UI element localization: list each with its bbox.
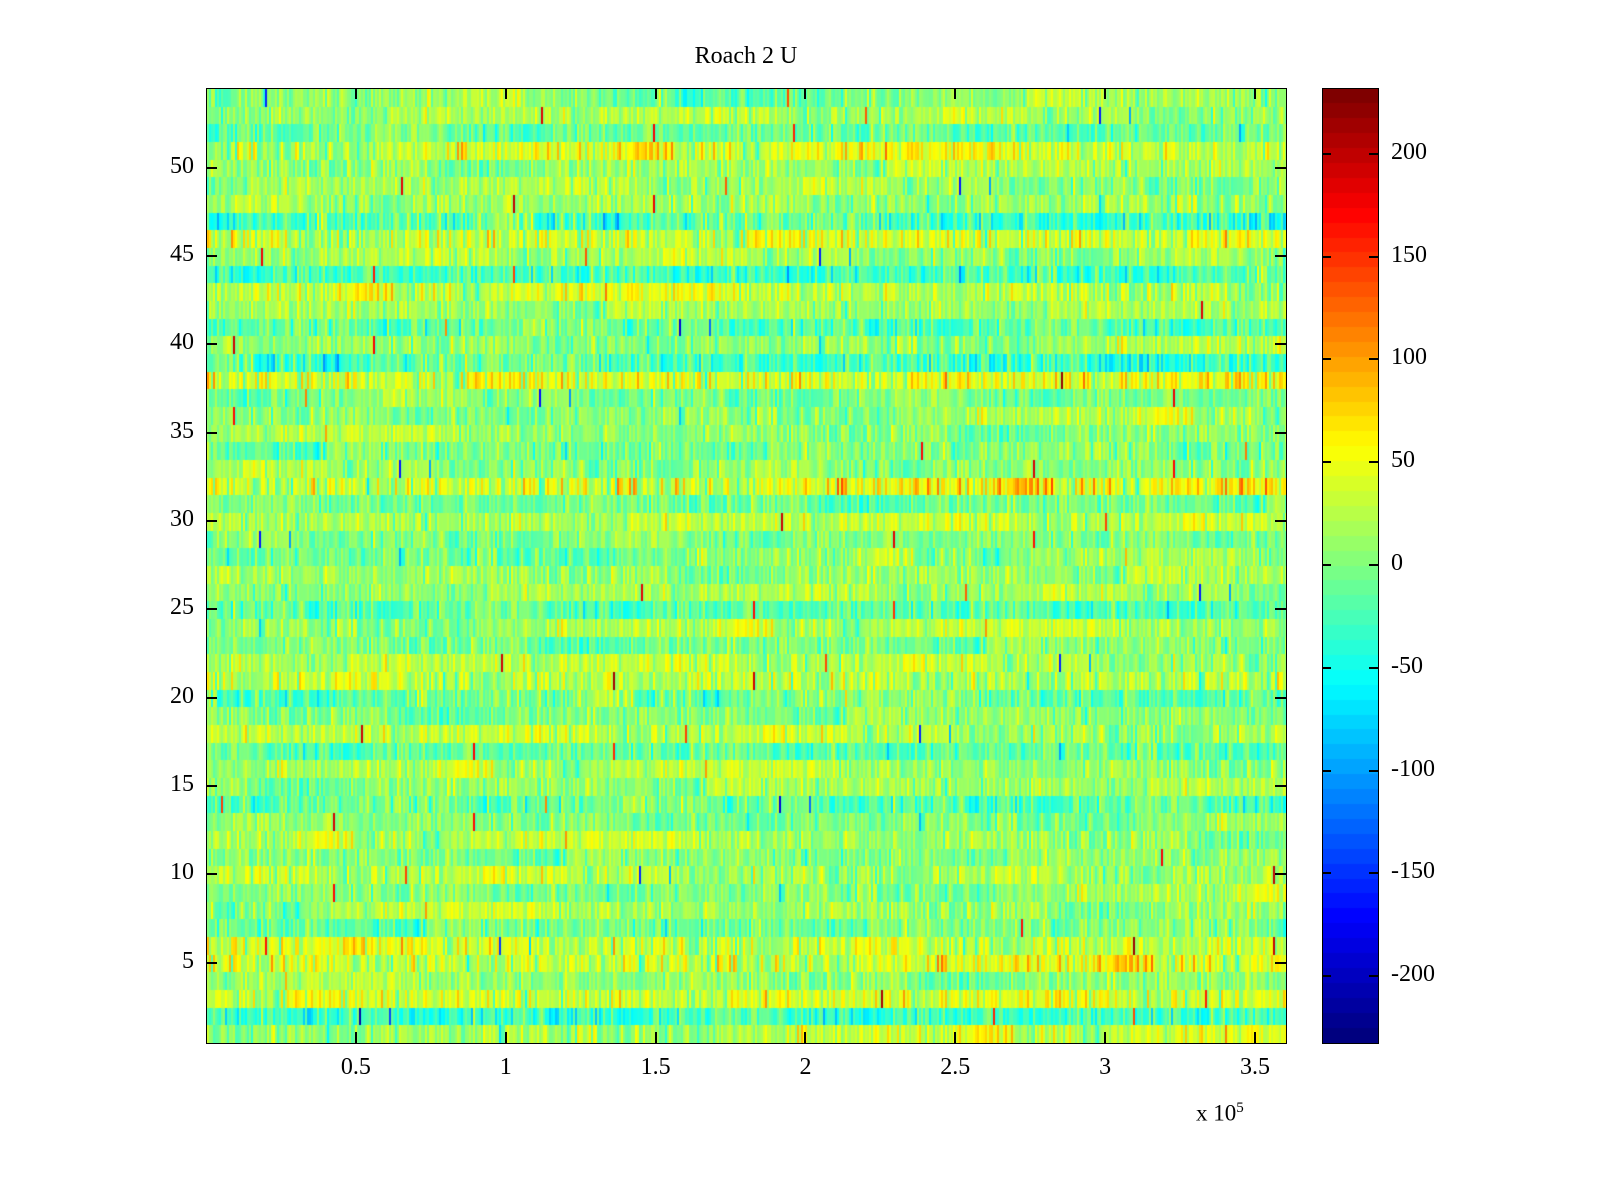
- y-tick-label: 45: [126, 241, 194, 268]
- colorbar-tick-mark-right: [1369, 358, 1378, 360]
- x-tick-label: 0.5: [316, 1054, 396, 1081]
- y-tick-mark: [206, 962, 217, 964]
- colorbar-tick-label: 200: [1391, 139, 1427, 166]
- colorbar-tick-label: -150: [1391, 858, 1435, 885]
- colorbar-tick-mark-right: [1369, 667, 1378, 669]
- colorbar-tick-mark: [1322, 975, 1331, 977]
- colorbar-tick-label: -200: [1391, 961, 1435, 988]
- y-tick-label: 10: [126, 859, 194, 886]
- colorbar-tick-mark-right: [1369, 770, 1378, 772]
- y-tick-mark: [206, 167, 217, 169]
- y-tick-mark-right: [1275, 520, 1286, 522]
- colorbar-tick-label: 50: [1391, 447, 1415, 474]
- x-tick-label: 3: [1065, 1054, 1145, 1081]
- x-tick-label: 1.5: [616, 1054, 696, 1081]
- heatmap-image: [207, 89, 1286, 1043]
- colorbar-tick-mark: [1322, 153, 1331, 155]
- y-tick-label: 50: [126, 153, 194, 180]
- colorbar-tick-label: 150: [1391, 242, 1427, 269]
- x-tick-mark: [804, 1032, 806, 1043]
- y-tick-mark-right: [1275, 962, 1286, 964]
- colorbar-tick-mark: [1322, 256, 1331, 258]
- colorbar-tick-mark: [1322, 564, 1331, 566]
- colorbar-tick-mark-right: [1369, 564, 1378, 566]
- page-title: Roach 2 U: [206, 42, 1286, 70]
- colorbar[interactable]: [1322, 88, 1379, 1044]
- heatmap-axes[interactable]: [206, 88, 1287, 1044]
- colorbar-tick-mark-right: [1369, 153, 1378, 155]
- y-tick-label: 25: [126, 594, 194, 621]
- y-tick-label: 15: [126, 771, 194, 798]
- colorbar-tick-label: -100: [1391, 756, 1435, 783]
- x-tick-mark-top: [505, 88, 507, 99]
- figure-canvas: Roach 2 U 5101520253035404550 0.511.522.…: [0, 0, 1600, 1200]
- colorbar-tick-label: 0: [1391, 550, 1403, 577]
- y-tick-mark-right: [1275, 432, 1286, 434]
- colorbar-tick-mark-right: [1369, 872, 1378, 874]
- x-tick-label: 1: [466, 1054, 546, 1081]
- y-tick-mark-right: [1275, 785, 1286, 787]
- y-tick-mark-right: [1275, 873, 1286, 875]
- x-tick-mark: [505, 1032, 507, 1043]
- colorbar-tick-mark: [1322, 770, 1331, 772]
- x-tick-mark: [954, 1032, 956, 1043]
- x-axis-exponent-label: x 105: [1196, 1100, 1244, 1127]
- colorbar-tick-mark: [1322, 872, 1331, 874]
- x-tick-mark-top: [1254, 88, 1256, 99]
- y-tick-mark-right: [1275, 343, 1286, 345]
- colorbar-tick-mark-right: [1369, 461, 1378, 463]
- y-tick-mark: [206, 873, 217, 875]
- x-tick-mark-top: [655, 88, 657, 99]
- x-tick-label: 3.5: [1215, 1054, 1295, 1081]
- y-tick-label: 20: [126, 683, 194, 710]
- colorbar-gradient: [1323, 89, 1378, 1043]
- y-tick-mark: [206, 785, 217, 787]
- x-tick-mark: [655, 1032, 657, 1043]
- colorbar-tick-mark-right: [1369, 975, 1378, 977]
- x-tick-mark-top: [804, 88, 806, 99]
- colorbar-tick-mark: [1322, 461, 1331, 463]
- y-tick-mark: [206, 520, 217, 522]
- x-tick-mark-top: [954, 88, 956, 99]
- y-tick-mark: [206, 255, 217, 257]
- y-tick-mark: [206, 697, 217, 699]
- y-tick-mark-right: [1275, 697, 1286, 699]
- x-tick-mark: [1254, 1032, 1256, 1043]
- y-tick-label: 30: [126, 506, 194, 533]
- x-tick-mark: [355, 1032, 357, 1043]
- x-tick-mark-top: [1104, 88, 1106, 99]
- y-tick-label: 35: [126, 418, 194, 445]
- y-tick-label: 40: [126, 329, 194, 356]
- y-tick-mark: [206, 343, 217, 345]
- colorbar-tick-label: -50: [1391, 653, 1423, 680]
- x-tick-label: 2.5: [915, 1054, 995, 1081]
- y-tick-mark: [206, 432, 217, 434]
- x-tick-mark-top: [355, 88, 357, 99]
- colorbar-tick-mark-right: [1369, 256, 1378, 258]
- colorbar-tick-label: 100: [1391, 344, 1427, 371]
- x-tick-mark: [1104, 1032, 1106, 1043]
- y-tick-mark-right: [1275, 255, 1286, 257]
- y-tick-label: 5: [126, 948, 194, 975]
- y-tick-mark-right: [1275, 608, 1286, 610]
- y-tick-mark: [206, 608, 217, 610]
- colorbar-tick-mark: [1322, 358, 1331, 360]
- y-tick-mark-right: [1275, 167, 1286, 169]
- colorbar-tick-mark: [1322, 667, 1331, 669]
- x-tick-label: 2: [765, 1054, 845, 1081]
